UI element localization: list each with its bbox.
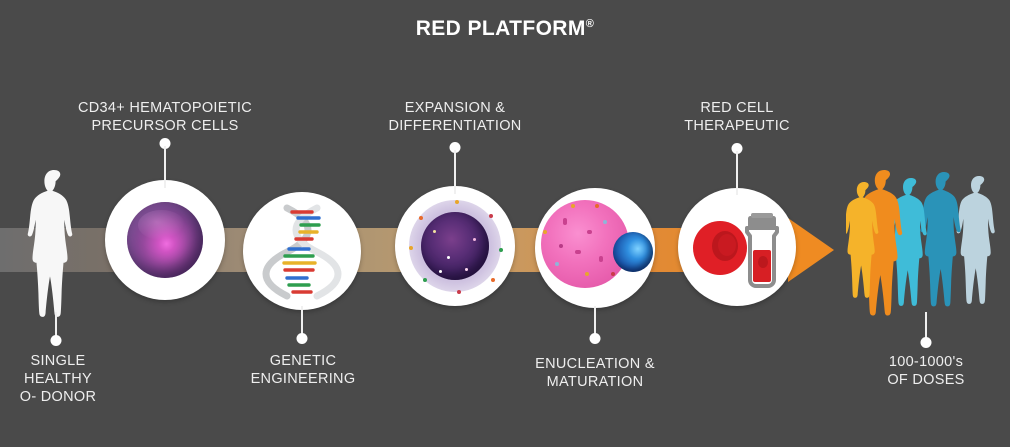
infographic-canvas: RED PLATFORM® SINGLE HEALTHY O- DONOR CD… — [0, 0, 1010, 447]
step-label-donor: SINGLE HEALTHY O- DONOR — [6, 352, 110, 406]
registered-mark: ® — [586, 18, 595, 30]
node-red-cell-therapeutic — [678, 188, 796, 306]
blood-vial-icon — [678, 188, 796, 306]
people-group-icon — [846, 168, 1006, 318]
node-expansion-differentiation — [395, 186, 515, 306]
step-label-doses: 100-1000's OF DOSES — [845, 353, 1007, 389]
dna-helix-icon — [243, 192, 361, 310]
node-genetic-engineering — [243, 192, 361, 310]
step-label-expansion-differentiation: EXPANSION & DIFFERENTIATION — [367, 99, 543, 135]
enucleating-cell-icon — [541, 200, 651, 296]
pin-precursor-cells — [159, 138, 171, 188]
step-label-genetic-engineering: GENETIC ENGINEERING — [222, 352, 384, 388]
step-label-enucleation-maturation: ENUCLEATION & MATURATION — [509, 355, 681, 391]
page-title: RED PLATFORM® — [0, 17, 1010, 41]
female-silhouette-icon — [18, 168, 90, 318]
node-precursor-cells — [105, 180, 225, 300]
page-title-text: RED PLATFORM — [416, 17, 586, 40]
pin-red-cell-therapeutic — [731, 143, 743, 193]
dividing-cell-icon — [403, 194, 507, 298]
node-enucleation-maturation — [535, 188, 655, 308]
step-label-red-cell-therapeutic: RED CELL THERAPEUTIC — [655, 99, 819, 135]
pin-enucleation-maturation — [589, 306, 601, 344]
stem-cell-icon — [127, 202, 203, 278]
pin-genetic-engineering — [296, 306, 308, 344]
step-label-precursor-cells: CD34+ HEMATOPOIETIC PRECURSOR CELLS — [40, 99, 290, 135]
pin-expansion-differentiation — [449, 142, 461, 192]
pin-donor — [50, 312, 62, 346]
pin-doses — [920, 312, 932, 348]
